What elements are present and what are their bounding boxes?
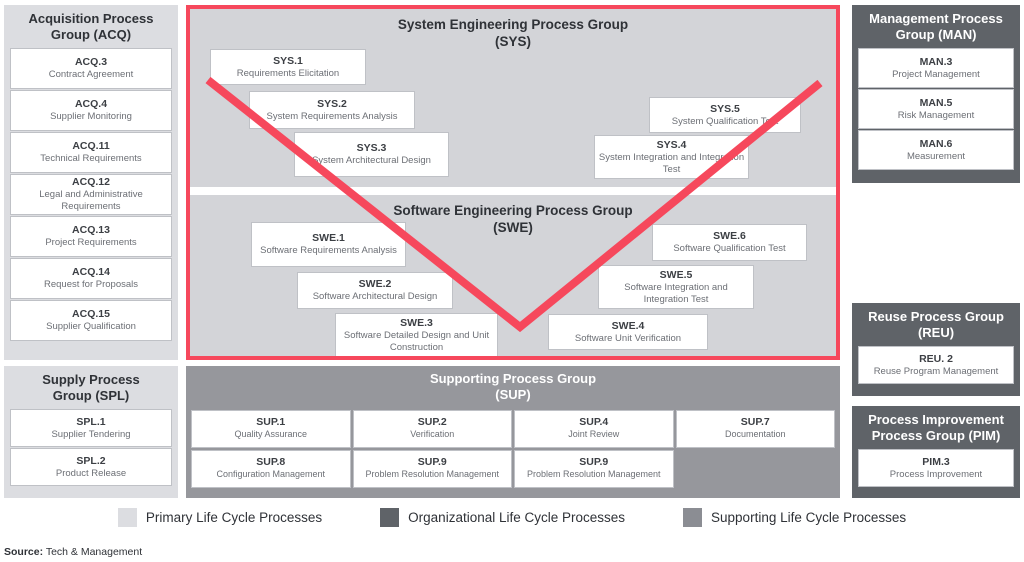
- process-code: SPL.2: [76, 455, 105, 468]
- process-box-acq-6[interactable]: ACQ.14Request for Proposals: [10, 258, 172, 299]
- process-box-acq-1[interactable]: ACQ.3Contract Agreement: [10, 48, 172, 89]
- process-box-sup-1[interactable]: SUP.1Quality Assurance: [191, 410, 351, 448]
- process-code: ACQ.3: [75, 56, 107, 69]
- legend-item-3: Supporting Life Cycle Processes: [683, 508, 906, 527]
- process-box-acq-4[interactable]: ACQ.12Legal and Administrative Requireme…: [10, 174, 172, 215]
- process-box-man-3[interactable]: MAN.6Measurement: [858, 130, 1014, 170]
- process-name: Technical Requirements: [40, 153, 141, 165]
- process-box-sup-6[interactable]: SUP.9Problem Resolution Management: [353, 450, 513, 488]
- process-name: Quality Assurance: [234, 429, 307, 440]
- process-box-sys-4[interactable]: SYS.4 System Integration and Integration…: [594, 135, 749, 179]
- process-box-sys-3[interactable]: SYS.3 System Architectural Design: [294, 132, 449, 177]
- process-code: SUP.8: [256, 456, 285, 469]
- supporting-process-group-panel: Supporting Process Group(SUP) SUP.1Quali…: [186, 366, 840, 498]
- process-code: SUP.2: [418, 416, 447, 429]
- process-code: SUP.1: [256, 416, 285, 429]
- process-code: MAN.3: [920, 56, 953, 69]
- process-name: Software Architectural Design: [313, 291, 438, 303]
- source-label: Source:: [4, 546, 43, 558]
- process-name: Software Detailed Design and Unit Constr…: [339, 330, 494, 354]
- process-name: Problem Resolution Management: [527, 469, 661, 480]
- process-name: Request for Proposals: [44, 279, 138, 291]
- process-name: Project Requirements: [45, 237, 136, 249]
- process-name: Joint Review: [568, 429, 619, 440]
- process-code: SWE.6: [713, 230, 746, 243]
- process-name: Requirements Elicitation: [237, 68, 339, 80]
- process-code: ACQ.12: [72, 176, 110, 189]
- process-box-acq-2[interactable]: ACQ.4Supplier Monitoring: [10, 90, 172, 131]
- legend-item-2: Organizational Life Cycle Processes: [380, 508, 625, 527]
- process-name: Software Integration and Integration Tes…: [602, 282, 750, 306]
- management-process-group-panel: Management ProcessGroup (MAN) MAN.3Proje…: [852, 5, 1020, 183]
- process-code: SUP.7: [741, 416, 770, 429]
- process-code: ACQ.11: [72, 140, 109, 153]
- sys-panel-title: System Engineering Process Group(SYS): [190, 9, 836, 51]
- process-name: Software Unit Verification: [575, 333, 681, 345]
- process-code: SWE.2: [359, 278, 392, 291]
- process-box-sup-5[interactable]: SUP.8Configuration Management: [191, 450, 351, 488]
- spl-panel-title: Supply ProcessGroup (SPL): [10, 372, 172, 403]
- process-name: Risk Management: [898, 110, 975, 122]
- acq-item-list: ACQ.3Contract AgreementACQ.4Supplier Mon…: [10, 48, 172, 341]
- process-name: Software Qualification Test: [673, 243, 785, 255]
- source-note: Source: Tech & Management: [4, 546, 142, 558]
- legend-label: Organizational Life Cycle Processes: [408, 510, 625, 525]
- process-box-sup-7[interactable]: SUP.9Problem Resolution Management: [514, 450, 674, 488]
- process-code: SWE.3: [400, 317, 433, 330]
- process-box-acq-3[interactable]: ACQ.11Technical Requirements: [10, 132, 172, 173]
- process-name: System Integration and Integration Test: [598, 152, 745, 176]
- process-code: SWE.5: [660, 269, 693, 282]
- process-box-pim-1[interactable]: PIM.3Process Improvement: [858, 449, 1014, 487]
- legend-swatch: [683, 508, 702, 527]
- sup-panel-title: Supporting Process Group(SUP): [191, 371, 835, 404]
- process-box-swe-6[interactable]: SWE.6 Software Qualification Test: [652, 224, 807, 261]
- process-box-swe-4[interactable]: SWE.4 Software Unit Verification: [548, 314, 708, 350]
- spl-item-list: SPL.1Supplier TenderingSPL.2Product Rele…: [10, 409, 172, 486]
- process-name: Measurement: [907, 151, 965, 163]
- process-name: Verification: [410, 429, 454, 440]
- legend-item-1: Primary Life Cycle Processes: [118, 508, 322, 527]
- process-box-sys-5[interactable]: SYS.5 System Qualification Test: [649, 97, 801, 133]
- process-code: SYS.3: [357, 142, 387, 155]
- process-box-spl-1[interactable]: SPL.1Supplier Tendering: [10, 409, 172, 447]
- man-panel-title: Management ProcessGroup (MAN): [858, 11, 1014, 42]
- process-code: SYS.1: [273, 55, 303, 68]
- process-box-man-2[interactable]: MAN.5Risk Management: [858, 89, 1014, 129]
- process-name: Legal and Administrative Requirements: [14, 189, 168, 213]
- reu-item-list: REU. 2Reuse Program Management: [858, 346, 1014, 384]
- process-code: MAN.5: [920, 97, 953, 110]
- process-box-sys-2[interactable]: SYS.2 System Requirements Analysis: [249, 91, 415, 129]
- process-code: SUP.9: [579, 456, 608, 469]
- pim-item-list: PIM.3Process Improvement: [858, 449, 1014, 487]
- process-name: Problem Resolution Management: [365, 469, 499, 480]
- reuse-process-group-panel: Reuse Process Group(REU) REU. 2Reuse Pro…: [852, 303, 1020, 396]
- process-code: ACQ.14: [72, 266, 110, 279]
- process-name: Supplier Tendering: [51, 429, 130, 441]
- process-box-acq-5[interactable]: ACQ.13Project Requirements: [10, 216, 172, 257]
- process-box-swe-5[interactable]: SWE.5 Software Integration and Integrati…: [598, 265, 754, 309]
- process-box-spl-2[interactable]: SPL.2Product Release: [10, 448, 172, 486]
- acq-panel-title: Acquisition ProcessGroup (ACQ): [10, 11, 172, 42]
- process-name: System Architectural Design: [312, 155, 431, 167]
- process-code: SPL.1: [76, 416, 105, 429]
- process-code: SWE.1: [312, 232, 345, 245]
- process-code: ACQ.4: [75, 98, 107, 111]
- process-box-swe-3[interactable]: SWE.3 Software Detailed Design and Unit …: [335, 313, 498, 357]
- process-code: MAN.6: [920, 138, 953, 151]
- process-code: REU. 2: [919, 353, 953, 366]
- process-name: Project Management: [892, 69, 980, 81]
- pim-panel-title: Process ImprovementProcess Group (PIM): [858, 412, 1014, 443]
- process-name: Supplier Monitoring: [50, 111, 132, 123]
- reu-panel-title: Reuse Process Group(REU): [858, 309, 1014, 340]
- process-code: SUP.9: [418, 456, 447, 469]
- process-name: Contract Agreement: [49, 69, 134, 81]
- acquisition-process-group-panel: Acquisition ProcessGroup (ACQ) ACQ.3Cont…: [4, 5, 178, 360]
- legend-swatch: [380, 508, 399, 527]
- legend-swatch: [118, 508, 137, 527]
- process-name: Documentation: [725, 429, 786, 440]
- process-code: SUP.4: [579, 416, 608, 429]
- legend: Primary Life Cycle ProcessesOrganization…: [0, 508, 1024, 527]
- process-name: Configuration Management: [216, 469, 325, 480]
- process-box-swe-1[interactable]: SWE.1 Software Requirements Analysis: [251, 222, 406, 267]
- process-name: Software Requirements Analysis: [260, 245, 397, 257]
- process-name: System Qualification Test: [672, 116, 778, 128]
- process-box-man-1[interactable]: MAN.3Project Management: [858, 48, 1014, 88]
- man-item-list: MAN.3Project ManagementMAN.5Risk Managem…: [858, 48, 1014, 170]
- process-code: ACQ.13: [72, 224, 110, 237]
- sup-item-grid: SUP.1Quality AssuranceSUP.2VerificationS…: [191, 410, 835, 488]
- legend-label: Primary Life Cycle Processes: [146, 510, 322, 525]
- process-box-swe-2[interactable]: SWE.2 Software Architectural Design: [297, 272, 453, 309]
- process-box-sup-4[interactable]: SUP.7Documentation: [676, 410, 836, 448]
- process-box-reu-1[interactable]: REU. 2Reuse Program Management: [858, 346, 1014, 384]
- process-name: System Requirements Analysis: [267, 111, 398, 123]
- process-code: SYS.4: [657, 139, 687, 152]
- process-box-acq-7[interactable]: ACQ.15Supplier Qualification: [10, 300, 172, 341]
- process-name: Supplier Qualification: [46, 321, 136, 333]
- process-name: Process Improvement: [890, 469, 982, 481]
- process-code: SYS.5: [710, 103, 740, 116]
- process-box-sup-3[interactable]: SUP.4Joint Review: [514, 410, 674, 448]
- process-code: PIM.3: [922, 456, 949, 469]
- process-improvement-process-group-panel: Process ImprovementProcess Group (PIM) P…: [852, 406, 1020, 498]
- process-name: Reuse Program Management: [874, 366, 999, 378]
- source-text: Tech & Management: [43, 546, 142, 558]
- process-code: ACQ.15: [72, 308, 110, 321]
- process-name: Product Release: [56, 468, 126, 480]
- process-code: SWE.4: [612, 320, 645, 333]
- process-code: SYS.2: [317, 98, 347, 111]
- process-box-sup-2[interactable]: SUP.2Verification: [353, 410, 513, 448]
- legend-label: Supporting Life Cycle Processes: [711, 510, 906, 525]
- supply-process-group-panel: Supply ProcessGroup (SPL) SPL.1Supplier …: [4, 366, 178, 498]
- process-box-sys-1[interactable]: SYS.1 Requirements Elicitation: [210, 49, 366, 85]
- engineering-v-model-region: System Engineering Process Group(SYS) So…: [186, 5, 840, 360]
